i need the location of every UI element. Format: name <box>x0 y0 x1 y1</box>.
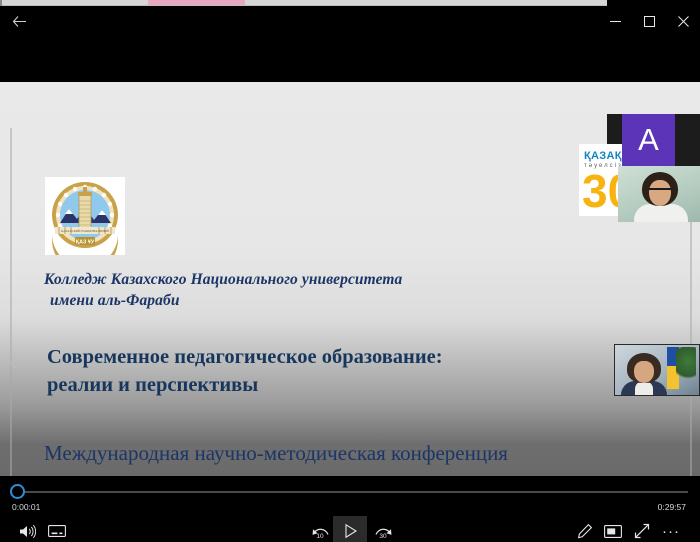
maximize-button[interactable] <box>632 6 666 36</box>
forward-30-button[interactable]: 30 <box>368 516 398 542</box>
slide-subtitle-line1: Международная научно-методическая конфер… <box>44 441 508 465</box>
slide-title-line2: реалии и перспективы <box>47 372 567 400</box>
avatar-initial: A <box>638 122 659 158</box>
captions-icon[interactable] <box>42 516 72 542</box>
player-controls: 0:00:01 0:29:57 10 <box>0 476 700 542</box>
current-time-label: 0:00:01 <box>12 502 40 512</box>
slide-subtitle: Международная научно-методическая конфер… <box>44 437 644 476</box>
title-bar <box>0 6 700 36</box>
camera2-face <box>634 361 654 383</box>
slide-organization-line2: имени аль-Фараби <box>44 291 514 312</box>
camera1-torso <box>634 204 688 222</box>
camera2-shirt <box>635 381 653 396</box>
camera2-plant <box>676 347 696 383</box>
more-options-icon[interactable]: ··· <box>656 516 686 542</box>
fullscreen-icon[interactable] <box>627 516 657 542</box>
slide-title-line1: Современное педагогическое образование: <box>47 346 443 368</box>
slide-title: Современное педагогическое образование: … <box>47 344 567 400</box>
left-rail <box>10 128 12 476</box>
slide-organization-line1: Колледж Казахского Национального универс… <box>44 271 402 288</box>
mini-player-icon[interactable] <box>598 516 628 542</box>
close-button[interactable] <box>666 6 700 36</box>
presentation-slide: ҚАЗ ҰУ КАЗАХСКИЙ НАЦИОНАЛЬНЫЙ Колледж Ка… <box>0 82 700 476</box>
svg-text:ҚАЗ ҰУ: ҚАЗ ҰУ <box>76 240 95 246</box>
volume-icon[interactable] <box>12 516 42 542</box>
svg-text:КАЗАХСКИЙ НАЦИОНАЛЬНЫЙ: КАЗАХСКИЙ НАЦИОНАЛЬНЫЙ <box>61 228 109 233</box>
play-button[interactable] <box>333 516 367 542</box>
participant-camera-tile-2[interactable] <box>614 344 700 396</box>
rewind-10-label: 10 <box>316 533 323 540</box>
slide-organization: Колледж Казахского Национального универс… <box>44 270 514 312</box>
participant-camera-tile-1[interactable] <box>618 166 700 222</box>
window-controls <box>598 6 700 36</box>
minimize-button[interactable] <box>598 6 632 36</box>
video-stage[interactable]: ҚАЗ ҰУ КАЗАХСКИЙ НАЦИОНАЛЬНЫЙ Колледж Ка… <box>0 36 700 476</box>
video-player-window: ҚАЗ ҰУ КАЗАХСКИЙ НАЦИОНАЛЬНЫЙ Колледж Ка… <box>0 0 700 542</box>
camera1-glasses <box>649 188 671 194</box>
back-button[interactable] <box>6 10 32 32</box>
rewind-10-button[interactable]: 10 <box>305 516 335 542</box>
pencil-icon[interactable] <box>570 516 600 542</box>
seek-handle[interactable] <box>10 484 25 499</box>
logo-kazak-text: ҚАЗАҚ <box>584 150 622 162</box>
seek-bar[interactable] <box>0 484 700 500</box>
chevron-left-icon[interactable]: ‹ <box>2 346 24 376</box>
seek-track[interactable] <box>12 491 688 493</box>
participant-avatar-tile[interactable]: A <box>622 114 675 166</box>
forward-30-label: 30 <box>379 533 386 540</box>
duration-label: 0:29:57 <box>658 502 686 512</box>
strip-highlight-segment <box>148 0 245 5</box>
university-emblem-icon: ҚАЗ ҰУ КАЗАХСКИЙ НАЦИОНАЛЬНЫЙ <box>45 177 125 255</box>
